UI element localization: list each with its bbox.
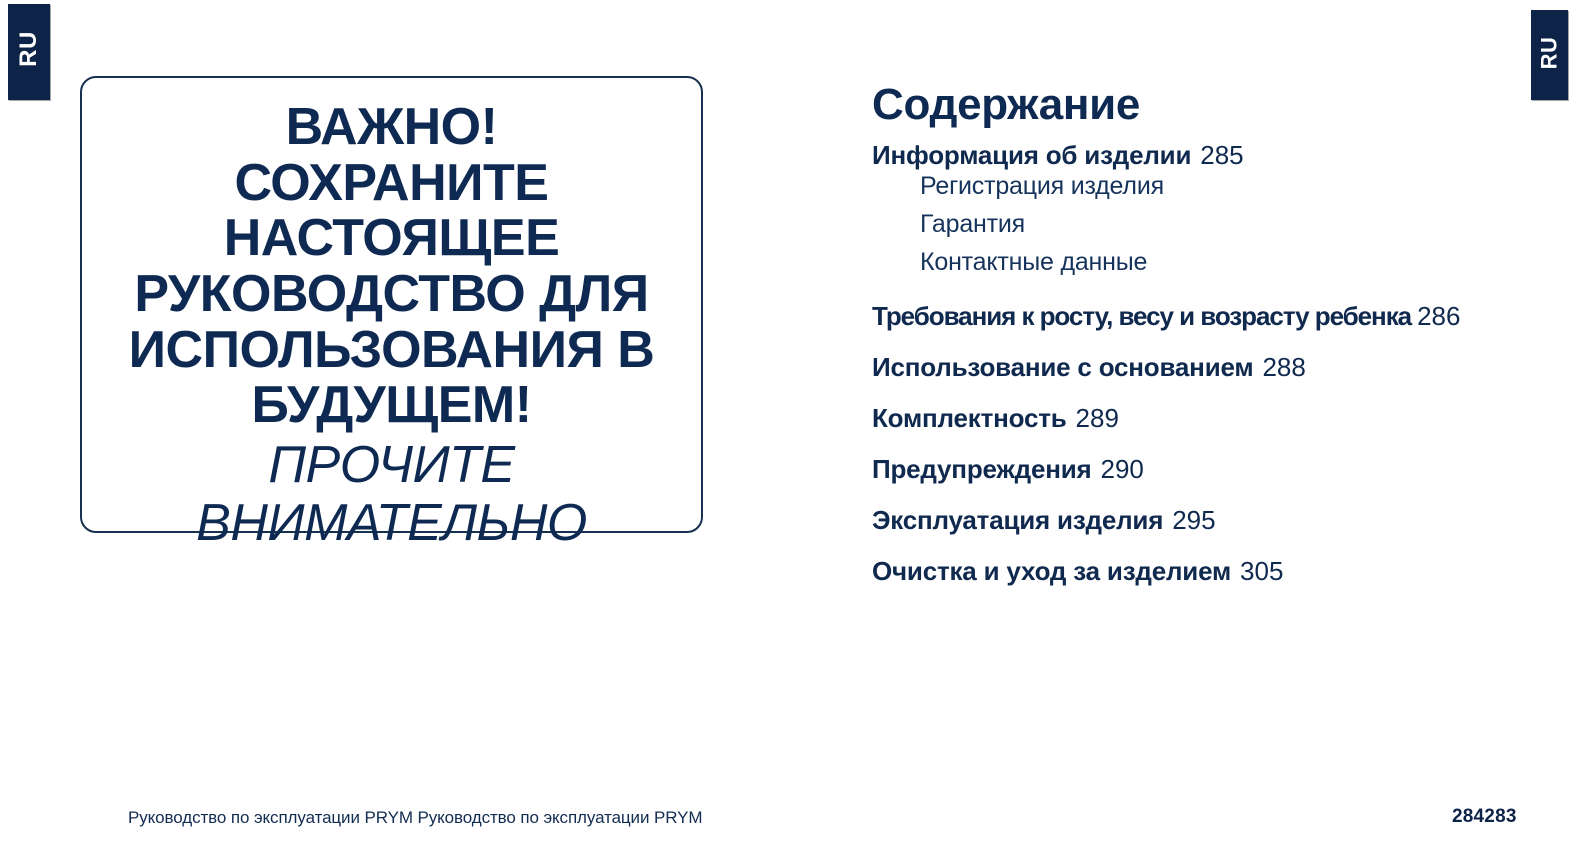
warning-line-4: РУКОВОДСТВО ДЛЯ	[82, 267, 701, 323]
toc-entry-page: 305	[1240, 556, 1283, 586]
table-of-contents: Содержание Информация об изделии285 Реги…	[872, 82, 1522, 607]
toc-entry-page: 289	[1076, 403, 1119, 433]
toc-entry-label: Эксплуатация изделия	[872, 505, 1163, 535]
toc-entry-page: 286	[1417, 301, 1460, 331]
warning-line-5: ИСПОЛЬЗОВАНИЯ В	[82, 323, 701, 379]
warning-line-8: ВНИМАТЕЛЬНО	[82, 494, 701, 552]
warning-line-6: БУДУЩЕМ!	[82, 378, 701, 434]
toc-entry-use-with-base[interactable]: Использование с основанием288	[872, 352, 1522, 383]
toc-entry-page: 295	[1172, 505, 1215, 535]
important-warning-box: ВАЖНО! СОХРАНИТЕ НАСТОЯЩЕЕ РУКОВОДСТВО Д…	[80, 76, 703, 533]
toc-entry-product-operation[interactable]: Эксплуатация изделия295	[872, 505, 1522, 536]
warning-line-1: ВАЖНО!	[82, 100, 701, 156]
warning-line-2: СОХРАНИТЕ	[82, 156, 701, 212]
manual-page: RU RU ВАЖНО! СОХРАНИТЕ НАСТОЯЩЕЕ РУКОВОД…	[0, 0, 1580, 847]
language-tab-right: RU	[1531, 10, 1568, 100]
toc-sublist: Регистрация изделия Гарантия Контактные …	[872, 167, 1522, 281]
toc-entry-warnings[interactable]: Предупреждения290	[872, 454, 1522, 485]
language-tab-right-label: RU	[1539, 37, 1561, 70]
toc-entry-label: Предупреждения	[872, 454, 1091, 484]
toc-entry-label: Информация об изделии	[872, 140, 1191, 170]
toc-entry-child-requirements[interactable]: Требования к росту, весу и возрасту ребе…	[872, 301, 1522, 332]
toc-entry-label: Комплектность	[872, 403, 1067, 433]
footer-manual-title: Руководство по эксплуатации PRYM Руковод…	[128, 808, 702, 828]
toc-heading: Содержание	[872, 82, 1522, 128]
footer-page-number: 284283	[1452, 806, 1517, 828]
toc-entry-page: 285	[1200, 140, 1243, 170]
toc-entry-page: 288	[1262, 352, 1305, 382]
toc-entry-completeness[interactable]: Комплектность289	[872, 403, 1522, 434]
toc-subentry-warranty[interactable]: Гарантия	[920, 205, 1522, 243]
language-tab-left-label: RU	[17, 31, 41, 67]
warning-line-7: ПРОЧИТЕ	[82, 436, 701, 494]
toc-subentry-product-registration[interactable]: Регистрация изделия	[920, 167, 1522, 205]
warning-line-3: НАСТОЯЩЕЕ	[82, 211, 701, 267]
toc-entry-label: Использование с основанием	[872, 352, 1253, 382]
toc-entry-cleaning-and-care[interactable]: Очистка и уход за изделием305	[872, 556, 1522, 587]
toc-subentry-contact-details[interactable]: Контактные данные	[920, 243, 1522, 281]
toc-entry-page: 290	[1100, 454, 1143, 484]
toc-entry-label: Очистка и уход за изделием	[872, 556, 1231, 586]
language-tab-left: RU	[8, 4, 50, 100]
toc-entry-label: Требования к росту, весу и возрасту ребе…	[872, 301, 1411, 331]
